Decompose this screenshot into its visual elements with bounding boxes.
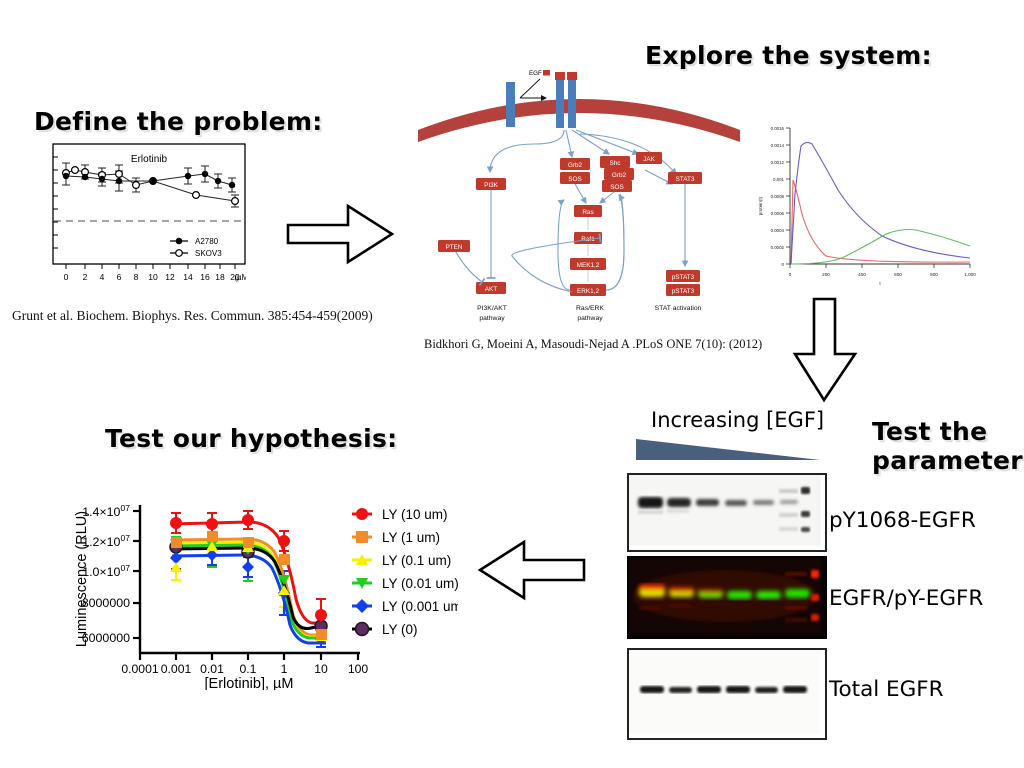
legend-ly-0.001um: LY (0.001 um) bbox=[382, 599, 458, 614]
svg-text:6: 6 bbox=[117, 272, 122, 282]
svg-text:0: 0 bbox=[789, 272, 792, 277]
svg-text:200: 200 bbox=[822, 272, 830, 277]
svg-text:0.01: 0.01 bbox=[200, 662, 224, 676]
dose-y-axis-label: Luminescence (RLU) bbox=[74, 511, 90, 647]
blot-label-egfr-py-egfr: EGFR/pY-EGFR bbox=[829, 586, 983, 611]
svg-text:0: 0 bbox=[64, 272, 69, 282]
node-grb2-b: Grb2 bbox=[604, 168, 634, 180]
svg-text:MEK1,2: MEK1,2 bbox=[577, 262, 600, 269]
chart-erlotinib-viability: Erlotinib bbox=[52, 143, 246, 293]
node-mek: MEK1,2 bbox=[570, 258, 606, 270]
svg-text:0.0002: 0.0002 bbox=[771, 245, 785, 250]
node-pten: PTEN bbox=[438, 240, 470, 252]
svg-text:14: 14 bbox=[183, 272, 193, 282]
svg-text:0.001: 0.001 bbox=[161, 662, 192, 676]
legend-label-skov3: SKOV3 bbox=[195, 249, 222, 258]
svg-text:Shc: Shc bbox=[609, 160, 621, 167]
egf-gradient-triangle-icon bbox=[634, 437, 824, 468]
diagram-egfr-signaling-pathway: EGF EGFR PP PP PI3K bbox=[414, 62, 744, 330]
svg-text:Grb2: Grb2 bbox=[612, 172, 627, 179]
svg-text:2: 2 bbox=[83, 272, 88, 282]
pathway-footer-ras: Ras/ERK bbox=[576, 305, 604, 312]
node-stat3: STAT3 bbox=[668, 172, 702, 184]
svg-text:0.1: 0.1 bbox=[240, 662, 257, 676]
svg-text:pathway: pathway bbox=[479, 315, 505, 322]
svg-text:600: 600 bbox=[894, 272, 902, 277]
svg-text:0.0004: 0.0004 bbox=[771, 228, 785, 233]
blot-egfr-py-egfr bbox=[627, 556, 827, 639]
ligand-label: EGF bbox=[529, 70, 542, 77]
arrow-right-icon bbox=[286, 203, 396, 265]
node-sos: SOS bbox=[560, 172, 590, 184]
svg-text:0.0016: 0.0016 bbox=[771, 126, 785, 131]
svg-text:1: 1 bbox=[281, 662, 288, 676]
svg-text:100: 100 bbox=[348, 662, 369, 676]
heading-test-our-hypothesis: Test our hypothesis: bbox=[105, 425, 397, 454]
svg-text:10: 10 bbox=[148, 272, 158, 282]
blot-total-egfr bbox=[627, 648, 827, 740]
dose-x-axis-label: [Erlotinib], µM bbox=[205, 676, 294, 690]
svg-text:P: P bbox=[577, 117, 581, 123]
node-pi3k: PI3K bbox=[476, 178, 506, 190]
x-axis-unit: (µM) bbox=[234, 273, 246, 282]
svg-text:PTEN: PTEN bbox=[445, 244, 462, 251]
node-shc: Shc bbox=[600, 156, 630, 168]
svg-text:SOS: SOS bbox=[568, 176, 582, 183]
svg-text:0.0012: 0.0012 bbox=[771, 160, 785, 165]
heading-define-the-problem: Define the problem: bbox=[34, 108, 323, 137]
svg-text:0.0014: 0.0014 bbox=[771, 143, 785, 148]
dose-legend: LY (10 um) LY (1 um) LY (0.1 um) LY (0.0… bbox=[352, 507, 458, 637]
svg-text:P: P bbox=[547, 126, 551, 132]
node-grb2: Grb2 bbox=[560, 158, 590, 170]
svg-text:AKT: AKT bbox=[485, 286, 498, 293]
svg-text:16: 16 bbox=[200, 272, 210, 282]
svg-text:ERK1,2: ERK1,2 bbox=[577, 288, 599, 295]
svg-text:0.001: 0.001 bbox=[773, 177, 785, 182]
svg-text:STAT3: STAT3 bbox=[676, 176, 695, 183]
svg-text:400: 400 bbox=[858, 272, 866, 277]
legend-ly-0.01um: LY (0.01 um) bbox=[382, 576, 458, 591]
citation-bidkhori: Bidkhori G, Moeini A, Masoudi-Nejad A .P… bbox=[424, 337, 762, 352]
svg-text:Grb2: Grb2 bbox=[568, 162, 583, 169]
svg-text:PI3K: PI3K bbox=[484, 182, 499, 189]
svg-text:0.0006: 0.0006 bbox=[771, 211, 785, 216]
svg-text:10: 10 bbox=[314, 662, 328, 676]
egf-ligand-icon bbox=[543, 70, 550, 76]
svg-text:pSTAT3: pSTAT3 bbox=[672, 288, 695, 295]
workflow-slide: Define the problem: Explore the system: … bbox=[0, 0, 1024, 768]
node-pstat3-b: pSTAT3 bbox=[666, 284, 700, 296]
pathway-footer-stat: STAT activation bbox=[655, 305, 702, 312]
node-akt: AKT bbox=[476, 282, 506, 294]
svg-text:pSTAT3: pSTAT3 bbox=[672, 274, 695, 281]
chart-title: Erlotinib bbox=[131, 154, 168, 165]
node-jak: JAK bbox=[636, 152, 662, 164]
svg-text:4: 4 bbox=[100, 272, 105, 282]
node-erk: ERK1,2 bbox=[570, 284, 606, 296]
svg-text:0.0008: 0.0008 bbox=[771, 194, 785, 199]
arrow-down-icon bbox=[793, 296, 889, 404]
blot-py1068-egfr bbox=[627, 473, 827, 552]
svg-text:1,000: 1,000 bbox=[964, 272, 976, 277]
svg-text:800: 800 bbox=[930, 272, 938, 277]
svg-text:Ras: Ras bbox=[582, 209, 593, 216]
legend-label-a2780: A2780 bbox=[195, 237, 219, 246]
blot-label-total-egfr: Total EGFR bbox=[829, 677, 944, 702]
node-sos-b: SOS bbox=[602, 180, 632, 192]
gradient-label-increasing-egf: Increasing [EGF] bbox=[651, 408, 824, 432]
blot-label-py1068-egfr: pY1068-EGFR bbox=[829, 508, 976, 533]
pathway-footer-pi3k: PI3K/AKT bbox=[477, 305, 507, 312]
legend-ly-0.1um: LY (0.1 um) bbox=[382, 553, 451, 568]
node-pstat3-a: pSTAT3 bbox=[666, 270, 700, 282]
citation-grunt: Grunt et al. Biochem. Biophys. Res. Comm… bbox=[12, 308, 373, 324]
heading-test-the-parameters: Test the parameters: bbox=[872, 418, 1024, 476]
chart-erlotinib-dose-response: 1.4×1007 1.2×1007 1.0×1007 8000000 60000… bbox=[68, 475, 458, 690]
legend-ly-0: LY (0) bbox=[382, 622, 418, 637]
svg-text:12: 12 bbox=[165, 272, 175, 282]
arrow-left-icon bbox=[478, 540, 588, 606]
svg-text:8: 8 bbox=[134, 272, 139, 282]
receptor-label: EGFR bbox=[473, 98, 491, 105]
svg-text:SOS: SOS bbox=[610, 184, 624, 191]
legend-ly-1um: LY (1 um) bbox=[382, 530, 440, 545]
svg-text:0.0001: 0.0001 bbox=[121, 662, 158, 676]
svg-text:JAK: JAK bbox=[643, 156, 655, 163]
node-ras: Ras bbox=[574, 205, 602, 217]
svg-text:pathway: pathway bbox=[577, 315, 603, 322]
svg-text:18: 18 bbox=[215, 272, 225, 282]
chart-simulation-timecourse: 00.0002 0.00040.0006 0.00080.001 0.00120… bbox=[746, 118, 978, 288]
sim-y-axis-label: protein(t) bbox=[758, 196, 763, 215]
legend-ly-10um: LY (10 um) bbox=[382, 507, 448, 522]
svg-text:P: P bbox=[547, 117, 551, 123]
